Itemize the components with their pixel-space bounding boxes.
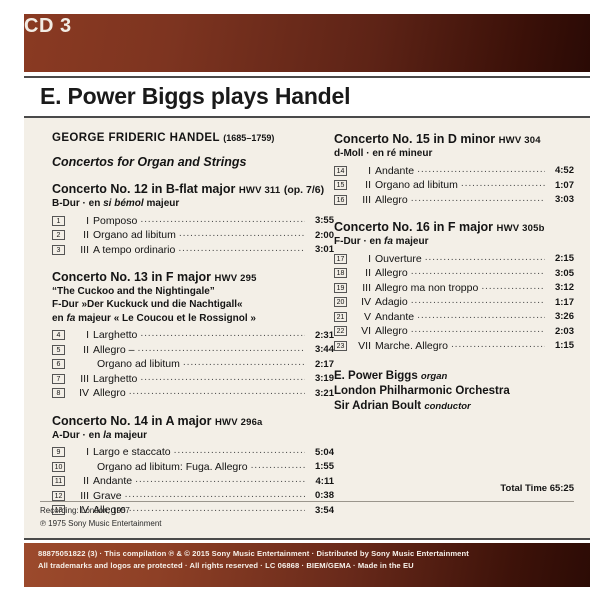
track-movement-numeral: VI <box>354 325 371 337</box>
track-row[interactable]: 15IIOrgano ad libitum...................… <box>334 178 574 193</box>
track-movement-numeral: VII <box>354 340 371 352</box>
work-collection-subtitle: Concertos for Organ and Strings <box>52 155 334 169</box>
track-title: Andante <box>375 165 414 177</box>
track-movement-numeral: I <box>72 329 89 341</box>
work-title: Concerto No. 13 in F major HWV 295 <box>52 270 334 285</box>
track-duration: 3:05 <box>548 268 574 279</box>
track-duration: 5:04 <box>308 447 334 458</box>
track-leader-dots: ........................................… <box>481 280 545 292</box>
legal-line-1: 88875051822 (3) · This compilation ℗ & ©… <box>38 548 469 560</box>
track-row[interactable]: 22VIAllegro.............................… <box>334 324 574 339</box>
track-title: Organo ad libitum: Fuga. Allegro <box>93 461 248 473</box>
track-leader-dots: ........................................… <box>251 459 305 471</box>
copyright-line: ℗ 1975 Sony Music Entertainment <box>40 518 162 530</box>
track-leader-dots: ........................................… <box>140 371 305 383</box>
track-duration: 1:17 <box>548 297 574 308</box>
work-subtitle-line: d-Moll · en ré mineur <box>334 147 574 160</box>
track-row[interactable]: 9ILargo e staccato......................… <box>52 445 334 460</box>
track-number-box: 3 <box>52 245 65 255</box>
track-title: Organo ad libitum <box>93 358 180 370</box>
track-number-box: 8 <box>52 388 65 398</box>
track-row[interactable]: 16IIIAllegro............................… <box>334 192 574 207</box>
track-duration: 3:03 <box>548 194 574 205</box>
track-duration: 2:31 <box>308 330 334 341</box>
track-row[interactable]: 21VAndante..............................… <box>334 309 574 324</box>
track-title: Adagio <box>375 296 408 308</box>
track-row[interactable]: 10Organo ad libitum: Fuga. Allegro......… <box>52 459 334 474</box>
work-catalogue-number: HWV 295 <box>215 273 257 284</box>
track-title: Larghetto <box>93 329 137 341</box>
track-movement-numeral: III <box>72 373 89 385</box>
track-leader-dots: ........................................… <box>425 251 545 263</box>
track-leader-dots: ........................................… <box>174 444 305 456</box>
work-catalogue-number: HWV 296a <box>215 417 263 428</box>
divider-above-credits <box>40 501 574 502</box>
track-movement-numeral: IV <box>72 387 89 399</box>
work-title-text: Concerto No. 13 in F major <box>52 270 211 284</box>
work-subtitle-line: B-Dur · en si bémol majeur <box>52 197 334 210</box>
track-movement-numeral: I <box>354 253 371 265</box>
track-number-box: 4 <box>52 330 65 340</box>
performers-list: E. Power Biggs organLondon Philharmonic … <box>334 369 574 415</box>
track-row[interactable]: 1IPomposo...............................… <box>52 213 334 228</box>
track-number-box: 17 <box>334 254 347 264</box>
track-number-box: 10 <box>52 462 65 472</box>
track-number-box: 5 <box>52 345 65 355</box>
track-number-box: 20 <box>334 297 347 307</box>
track-leader-dots: ........................................… <box>140 213 305 225</box>
track-title: Allegro ma non troppo <box>375 282 478 294</box>
work-subtitle-line: F-Dur · en fa majeur <box>334 235 574 248</box>
track-row[interactable]: 14IAndante..............................… <box>334 163 574 178</box>
track-duration: 4:52 <box>548 165 574 176</box>
track-leader-dots: ........................................… <box>178 242 305 254</box>
track-title: Grave <box>93 490 122 502</box>
track-number-box: 1 <box>52 216 65 226</box>
work-catalogue-number: HWV 311 <box>239 185 281 196</box>
track-number-box: 6 <box>52 359 65 369</box>
disc-label: CD 3 <box>24 15 72 38</box>
track-duration: 3:55 <box>308 215 334 226</box>
performer-entry: Sir Adrian Boult conductor <box>334 399 574 414</box>
track-number-box: 21 <box>334 312 347 322</box>
track-movement-numeral: I <box>72 215 89 227</box>
work-block: Concerto No. 16 in F major HWV 305bF-Dur… <box>334 220 574 353</box>
track-leader-dots: ........................................… <box>411 265 545 277</box>
track-duration: 1:55 <box>308 461 334 472</box>
track-list: 4ILarghetto.............................… <box>52 328 334 401</box>
performer-name: London Philharmonic Orchestra <box>334 385 510 397</box>
track-title: Ouverture <box>375 253 422 265</box>
track-duration: 3:54 <box>308 505 334 516</box>
track-leader-dots: ........................................… <box>125 488 305 500</box>
work-title-text: Concerto No. 14 in A major <box>52 414 212 428</box>
recording-line: Recording: London, 1957 <box>40 505 162 517</box>
track-duration: 3:26 <box>548 311 574 322</box>
track-number-box: 9 <box>52 447 65 457</box>
track-list: 1IPomposo...............................… <box>52 213 334 257</box>
tracklist-panel: GEORGE FRIDERIC HANDEL (1685–1759) Conce… <box>24 118 590 538</box>
track-movement-numeral: II <box>72 229 89 241</box>
work-title: Concerto No. 15 in D minor HWV 304 <box>334 132 574 147</box>
performer-name: E. Power Biggs <box>334 370 418 382</box>
track-row[interactable]: 4ILarghetto.............................… <box>52 328 334 343</box>
works-right: Concerto No. 15 in D minor HWV 304d-Moll… <box>334 132 574 353</box>
track-row[interactable]: 8IVAllegro..............................… <box>52 386 334 401</box>
divider-above-footer <box>24 538 590 540</box>
track-duration: 2:15 <box>548 253 574 264</box>
work-title-text: Concerto No. 16 in F major <box>334 220 493 234</box>
track-title: Allegro <box>375 267 408 279</box>
work-catalogue-number: HWV 305b <box>497 223 545 234</box>
track-duration: 1:15 <box>548 340 574 351</box>
work-subtitle-line: A-Dur · en la majeur <box>52 429 334 442</box>
track-movement-numeral: I <box>354 165 371 177</box>
track-duration: 3:21 <box>308 388 334 399</box>
work-catalogue-number: HWV 304 <box>499 135 541 146</box>
track-title: Allegro – <box>93 344 134 356</box>
track-number-box: 15 <box>334 180 347 190</box>
track-title: Marche. Allegro <box>375 340 448 352</box>
track-title: Allegro <box>375 325 408 337</box>
track-movement-numeral: IV <box>354 296 371 308</box>
track-duration: 2:17 <box>308 359 334 370</box>
recording-credits: Recording: London, 1957 ℗ 1975 Sony Musi… <box>40 505 162 530</box>
top-brown-band <box>24 14 590 72</box>
track-leader-dots: ........................................… <box>129 385 305 397</box>
legal-text: 88875051822 (3) · This compilation ℗ & ©… <box>38 548 469 572</box>
work-title: Concerto No. 14 in A major HWV 296a <box>52 414 334 429</box>
divider-under-band <box>24 76 590 78</box>
work-block: Concerto No. 15 in D minor HWV 304d-Moll… <box>334 132 574 207</box>
composer-name: GEORGE FRIDERIC HANDEL (1685–1759) <box>52 132 334 144</box>
work-subtitle-line: en fa majeur « Le Coucou et le Rossignol… <box>52 312 334 325</box>
track-number-box: 18 <box>334 268 347 278</box>
track-duration: 4:11 <box>308 476 334 487</box>
work-title: Concerto No. 16 in F major HWV 305b <box>334 220 574 235</box>
track-duration: 3:01 <box>308 244 334 255</box>
track-leader-dots: ........................................… <box>179 227 305 239</box>
tracklist-column-right: Concerto No. 15 in D minor HWV 304d-Moll… <box>334 132 574 415</box>
work-title-text: Concerto No. 12 in B-flat major <box>52 182 235 196</box>
track-leader-dots: ........................................… <box>137 342 305 354</box>
track-leader-dots: ........................................… <box>411 323 545 335</box>
track-row[interactable]: 3IIIA tempo ordinario...................… <box>52 242 334 257</box>
track-row[interactable]: 7IIILarghetto...........................… <box>52 372 334 387</box>
track-movement-numeral: III <box>72 244 89 256</box>
track-leader-dots: ........................................… <box>451 338 545 350</box>
track-number-box: 16 <box>334 195 347 205</box>
work-subtitle-line: F-Dur »Der Kuckuck und die Nachtigall« <box>52 298 334 311</box>
total-time: Total Time 65:25 <box>500 483 574 494</box>
track-title: Andante <box>93 475 132 487</box>
track-number-box: 19 <box>334 283 347 293</box>
track-row[interactable]: 5IIAllegro –............................… <box>52 343 334 358</box>
track-number-box: 11 <box>52 476 65 486</box>
track-number-box: 14 <box>334 166 347 176</box>
track-movement-numeral: III <box>354 282 371 294</box>
track-leader-dots: ........................................… <box>461 177 545 189</box>
performer-role: conductor <box>424 401 470 412</box>
composer-dates: (1685–1759) <box>223 133 274 143</box>
performer-entry: London Philharmonic Orchestra <box>334 384 574 399</box>
track-duration: 2:00 <box>308 230 334 241</box>
track-movement-numeral: II <box>72 475 89 487</box>
track-duration: 1:07 <box>548 180 574 191</box>
track-movement-numeral: V <box>354 311 371 323</box>
track-movement-numeral: III <box>72 490 89 502</box>
track-movement-numeral: III <box>354 194 371 206</box>
track-leader-dots: ........................................… <box>417 163 545 175</box>
track-duration: 0:38 <box>308 490 334 501</box>
track-duration: 3:19 <box>308 373 334 384</box>
track-title: Andante <box>375 311 414 323</box>
track-leader-dots: ........................................… <box>140 327 305 339</box>
track-number-box: 2 <box>52 230 65 240</box>
track-movement-numeral: I <box>72 446 89 458</box>
track-list: 14IAndante..............................… <box>334 163 574 207</box>
work-block: Concerto No. 12 in B-flat major HWV 311 … <box>52 182 334 257</box>
track-movement-numeral: II <box>354 267 371 279</box>
track-row[interactable]: 11IIAndante.............................… <box>52 474 334 489</box>
track-row[interactable]: 23VIIMarche. Allegro....................… <box>334 338 574 353</box>
track-title: Organo ad libitum <box>93 229 176 241</box>
track-leader-dots: ........................................… <box>411 192 545 204</box>
work-subtitle-line: “The Cuckoo and the Nightingale” <box>52 285 334 298</box>
track-title: Pomposo <box>93 215 137 227</box>
track-number-box: 12 <box>52 491 65 501</box>
track-title: A tempo ordinario <box>93 244 175 256</box>
cd-back-cover: CD 3 E. Power Biggs plays Handel GEORGE … <box>0 0 600 600</box>
track-leader-dots: ........................................… <box>135 473 305 485</box>
track-number-box: 7 <box>52 374 65 384</box>
performer-name: Sir Adrian Boult <box>334 400 421 412</box>
track-movement-numeral: II <box>354 179 371 191</box>
work-title: Concerto No. 12 in B-flat major HWV 311 … <box>52 182 334 197</box>
track-duration: 3:12 <box>548 282 574 293</box>
track-row[interactable]: 2IIOrgano ad libitum....................… <box>52 228 334 243</box>
track-title: Larghetto <box>93 373 137 385</box>
performer-entry: E. Power Biggs organ <box>334 369 574 384</box>
works-left: Concerto No. 12 in B-flat major HWV 311 … <box>52 182 334 517</box>
track-duration: 3:44 <box>308 344 334 355</box>
track-row[interactable]: 6Organo ad libitum......................… <box>52 357 334 372</box>
track-number-box: 22 <box>334 326 347 336</box>
track-duration: 2:03 <box>548 326 574 337</box>
track-row[interactable]: 19IIIAllegro ma non troppo..............… <box>334 280 574 295</box>
work-opus: (op. 7/6) <box>284 184 324 196</box>
track-title: Organo ad libitum <box>375 179 458 191</box>
bottom-brown-band: 88875051822 (3) · This compilation ℗ & ©… <box>24 543 590 587</box>
track-title: Allegro <box>93 387 126 399</box>
track-list: 17IOuverture............................… <box>334 251 574 353</box>
track-row[interactable]: 17IOuverture............................… <box>334 251 574 266</box>
work-title-text: Concerto No. 15 in D minor <box>334 132 495 146</box>
track-row[interactable]: 20IVAdagio..............................… <box>334 295 574 310</box>
album-title: E. Power Biggs plays Handel <box>40 83 350 110</box>
track-row[interactable]: 18IIAllegro.............................… <box>334 266 574 281</box>
track-leader-dots: ........................................… <box>183 356 305 368</box>
performer-role: organ <box>421 371 447 382</box>
legal-line-2: All trademarks and logos are protected ·… <box>38 560 469 572</box>
track-title: Largo e staccato <box>93 446 171 458</box>
track-title: Allegro <box>375 194 408 206</box>
track-number-box: 23 <box>334 341 347 351</box>
tracklist-column-left: GEORGE FRIDERIC HANDEL (1685–1759) Conce… <box>52 132 334 530</box>
track-leader-dots: ........................................… <box>411 294 545 306</box>
track-movement-numeral: II <box>72 344 89 356</box>
track-leader-dots: ........................................… <box>417 309 545 321</box>
work-block: Concerto No. 13 in F major HWV 295“The C… <box>52 270 334 401</box>
composer-name-text: GEORGE FRIDERIC HANDEL <box>52 132 220 144</box>
